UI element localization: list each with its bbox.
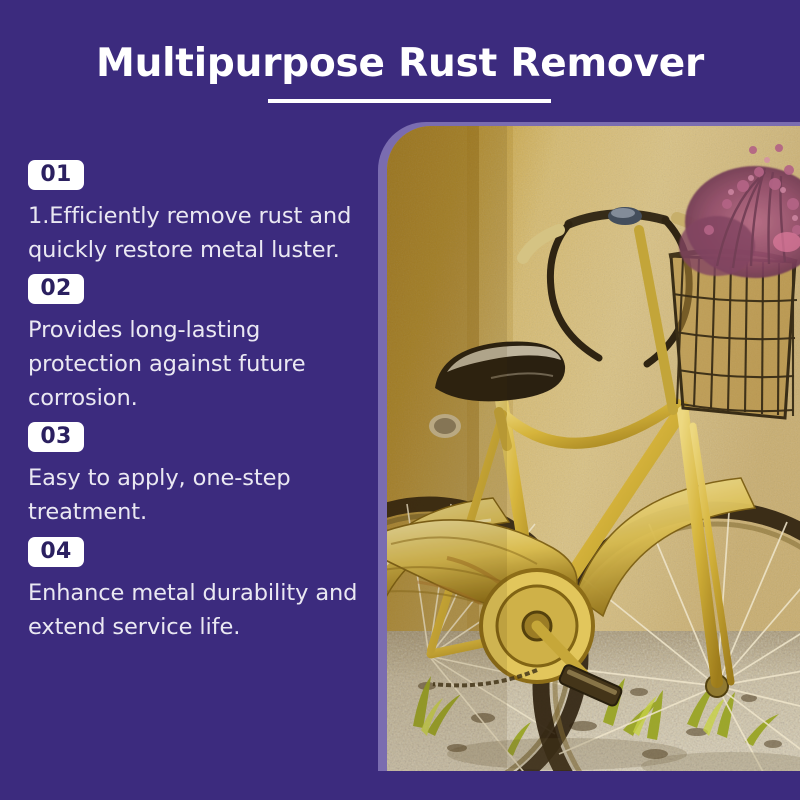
feature-item: 01 1.Efficiently remove rust and quickly… [28, 160, 358, 267]
product-feature-card: Multipurpose Rust Remover 01 1.Efficient… [0, 0, 800, 800]
product-photo-panel [378, 122, 800, 771]
page-title: Multipurpose Rust Remover [0, 42, 800, 86]
product-photo [387, 126, 800, 771]
feature-description: 1.Efficiently remove rust and quickly re… [28, 199, 358, 267]
feature-description: Easy to apply, one-step treatment. [28, 461, 358, 529]
feature-description: Provides long-lasting protection against… [28, 313, 358, 415]
feature-item: 04 Enhance metal durability and extend s… [28, 537, 358, 644]
feature-number-badge: 03 [28, 422, 84, 452]
feature-list: 01 1.Efficiently remove rust and quickly… [28, 160, 358, 644]
feature-number-badge: 04 [28, 537, 84, 567]
feature-description: Enhance metal durability and extend serv… [28, 576, 358, 644]
feature-number-badge: 01 [28, 160, 84, 190]
feature-item: 02 Provides long-lasting protection agai… [28, 274, 358, 415]
feature-item: 03 Easy to apply, one-step treatment. [28, 422, 358, 529]
header: Multipurpose Rust Remover [0, 0, 800, 120]
title-underline-divider [268, 99, 551, 103]
feature-number-badge: 02 [28, 274, 84, 304]
bicycle-against-wall-photo [387, 126, 800, 771]
